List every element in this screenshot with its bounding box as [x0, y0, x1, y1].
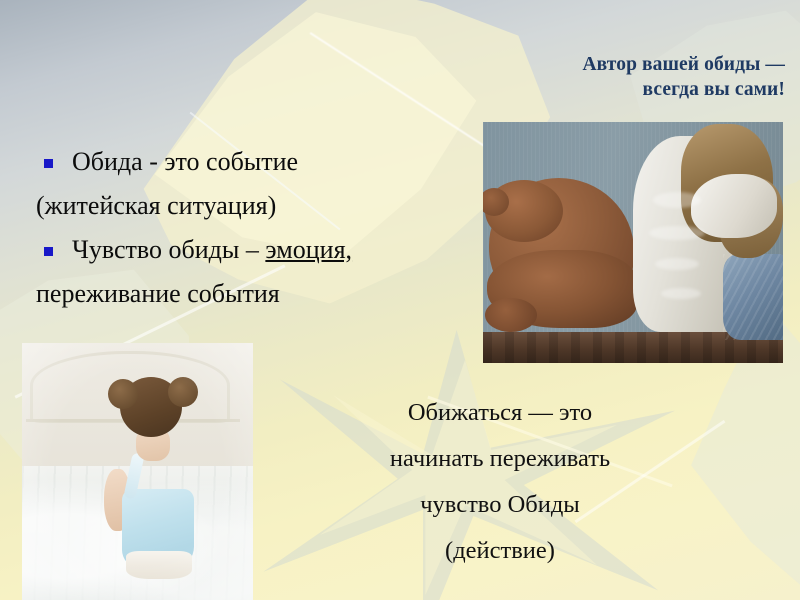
square-bullet-icon: [44, 159, 53, 168]
body-paragraph: переживание события: [36, 272, 456, 316]
caption-line: начинать переживать: [330, 436, 670, 482]
teddy-bear-foot: [485, 298, 537, 332]
bullet-list-item: Чувство обиды – эмоция,: [36, 228, 456, 272]
girl-arm: [691, 174, 777, 238]
fabric-fold: [649, 226, 705, 240]
caption-line: чувство Обиды: [330, 482, 670, 528]
photo-teddy-bear-and-girl: [483, 122, 783, 363]
presentation-slide: Автор вашей обиды — всегда вы сами! Обид…: [0, 0, 800, 600]
body-paragraph-label: (житейская ситуация): [36, 191, 276, 220]
fabric-fold: [653, 192, 701, 208]
square-bullet-icon: [44, 247, 53, 256]
photo-little-girl-on-bed: [22, 343, 253, 600]
bullet-item-label: Чувство обиды –: [72, 235, 265, 264]
girl-blue-jeans: [723, 254, 783, 340]
photo-vignette: [22, 343, 253, 600]
bullet-list-item: Обида - это событие: [36, 140, 456, 184]
body-paragraph-label: переживание события: [36, 279, 280, 308]
caption-line: Обижаться — это: [330, 390, 670, 436]
underlined-emphasis: эмоция,: [265, 235, 352, 264]
fabric-fold: [655, 258, 699, 270]
body-paragraph: (житейская ситуация): [36, 184, 456, 228]
slide-caption: Обижаться — это начинать переживать чувс…: [330, 390, 670, 574]
caption-line: (действие): [330, 528, 670, 574]
slide-title: Автор вашей обиды — всегда вы сами!: [430, 52, 785, 102]
fabric-fold: [661, 288, 701, 299]
slide-title-line: всегда вы сами!: [430, 77, 785, 102]
slide-title-line: Автор вашей обиды —: [430, 52, 785, 77]
bullet-item-label: Обида - это событие: [72, 147, 298, 176]
slide-body-text: Обида - это событие (житейская ситуация)…: [36, 140, 456, 316]
